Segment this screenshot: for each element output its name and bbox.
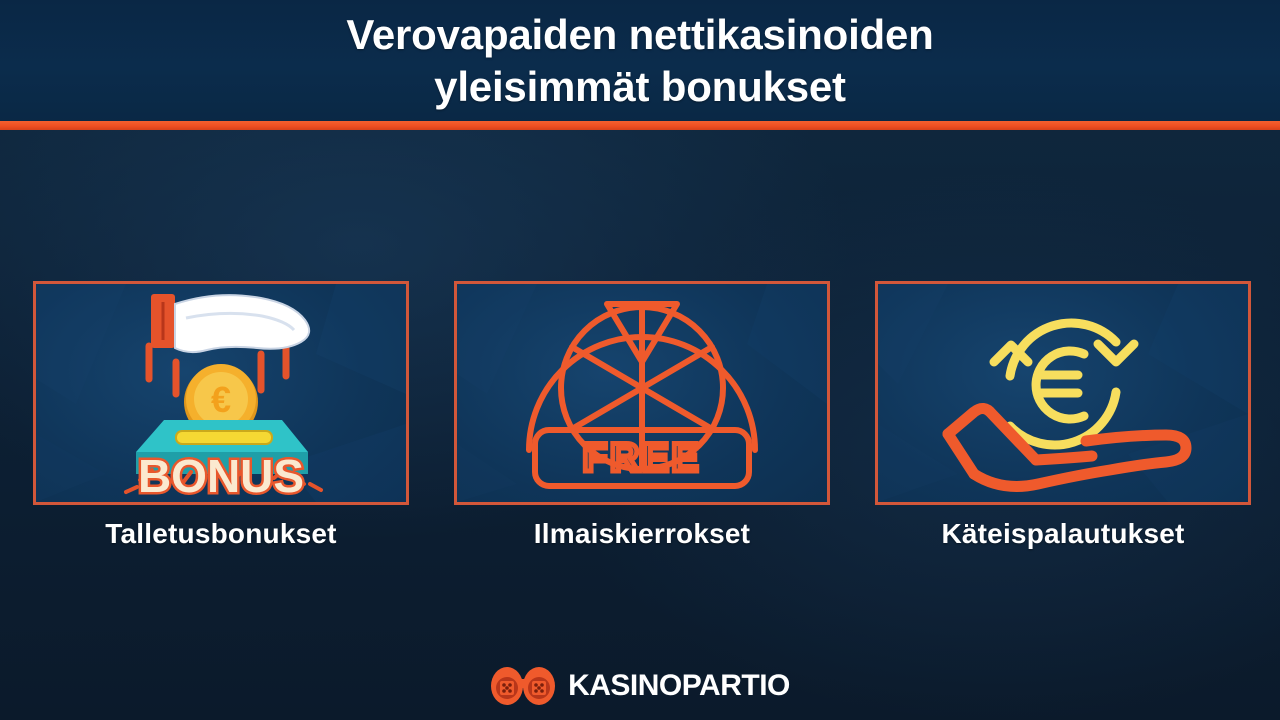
header-banner: Verovapaiden nettikasinoiden yleisimmät … bbox=[0, 0, 1280, 121]
card-caption-cashback: Käteispalautukset bbox=[875, 518, 1251, 550]
bonus-card-cashback[interactable] bbox=[875, 281, 1251, 505]
slot-opening-icon bbox=[176, 431, 272, 444]
hand-dropping-coin-into-slot-icon: € BONUS bbox=[36, 284, 406, 502]
bonus-card-deposit[interactable]: € BONUS bbox=[33, 281, 409, 505]
card-caption-free-spins: Ilmaiskierrokset bbox=[454, 518, 830, 550]
euro-symbol-icon bbox=[1036, 351, 1084, 419]
infographic-canvas: Verovapaiden nettikasinoiden yleisimmät … bbox=[0, 0, 1280, 720]
bonus-card-free-spins[interactable]: FREE bbox=[454, 281, 830, 505]
binoculars-dice-logo-icon bbox=[490, 666, 556, 706]
bonus-card-row: € BONUS bbox=[33, 281, 1251, 505]
fortune-wheel-free-spins-icon: FREE bbox=[457, 284, 827, 502]
euro-cashback-hand-icon bbox=[878, 284, 1248, 502]
refresh-arrows-icon bbox=[994, 323, 1134, 445]
logo-wordmark: KASINOPARTIO bbox=[568, 669, 790, 703]
card-caption-deposit: Talletusbonukset bbox=[33, 518, 409, 550]
caption-row: Talletusbonukset Ilmaiskierrokset Käteis… bbox=[33, 518, 1251, 550]
free-badge-text: FREE bbox=[583, 436, 702, 480]
page-title: Verovapaiden nettikasinoiden yleisimmät … bbox=[346, 9, 933, 113]
hand-icon bbox=[175, 295, 309, 352]
header-accent-rule bbox=[0, 121, 1280, 130]
svg-text:€: € bbox=[211, 379, 231, 420]
bonus-badge-text: BONUS bbox=[138, 450, 304, 502]
footer-logo[interactable]: KASINOPARTIO bbox=[0, 660, 1280, 712]
